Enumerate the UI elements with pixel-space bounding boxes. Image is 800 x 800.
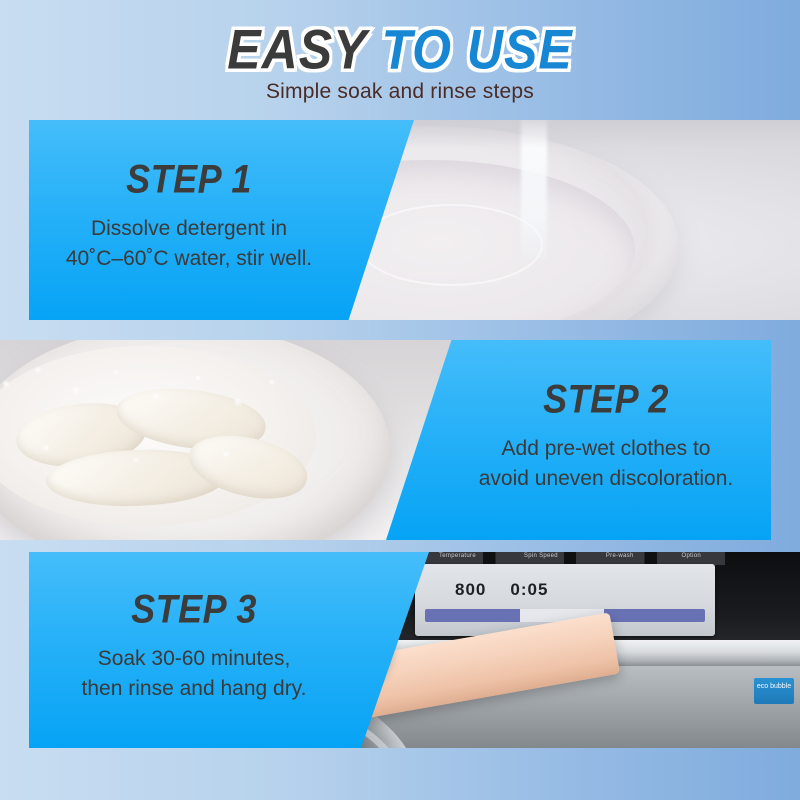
step-2-text-block: STEP 2 Add pre-wet clothes to avoid unev…: [456, 376, 756, 494]
step-card-3: Temperature Spin Speed Pre-wash Option 8…: [29, 552, 800, 748]
step-3-desc-line-2: then rinse and hang dry.: [39, 674, 349, 704]
washer-button-prewash[interactable]: Pre-wash: [606, 553, 634, 559]
title-part-easy: EASY: [227, 18, 381, 81]
step-1-desc-line-1: Dissolve detergent in: [39, 214, 339, 244]
step-card-1: STEP 1 Dissolve detergent in 40˚C–60˚C w…: [29, 120, 800, 320]
infographic-canvas: EASY TO USE Simple soak and rinse steps …: [0, 0, 800, 800]
page-subtitle: Simple soak and rinse steps: [0, 80, 800, 104]
step-1-text-block: STEP 1 Dissolve detergent in 40˚C–60˚C w…: [39, 156, 339, 274]
step-1-desc-line-2: 40˚C–60˚C water, stir well.: [39, 244, 339, 274]
step-2-label: STEP 2: [456, 376, 756, 422]
page-title: EASY TO USE: [0, 18, 800, 81]
step-card-2: STEP 2 Add pre-wet clothes to avoid unev…: [0, 340, 771, 540]
water-ripple: [359, 204, 543, 286]
basin-bowl: [0, 340, 390, 540]
washer-eco-badge: eco bubble: [754, 678, 794, 704]
washer-button-spin-speed[interactable]: Spin Speed: [524, 553, 558, 559]
washer-button-option[interactable]: Option: [682, 553, 701, 559]
step-1-label: STEP 1: [39, 156, 339, 202]
step-2-desc-line-2: avoid uneven discoloration.: [456, 464, 756, 494]
step-3-label: STEP 3: [39, 586, 349, 632]
step-2-desc-line-1: Add pre-wet clothes to: [456, 434, 756, 464]
title-part-to-use: TO USE: [381, 18, 572, 81]
step-3-desc-line-1: Soak 30-60 minutes,: [39, 644, 349, 674]
header: EASY TO USE Simple soak and rinse steps: [0, 0, 800, 120]
step-3-text-block: STEP 3 Soak 30-60 minutes, then rinse an…: [39, 586, 349, 704]
soap-suds: [0, 360, 306, 490]
washer-button-temperature[interactable]: Temperature: [439, 553, 476, 559]
washer-top-button-labels: Temperature Spin Speed Pre-wash Option: [415, 553, 725, 559]
